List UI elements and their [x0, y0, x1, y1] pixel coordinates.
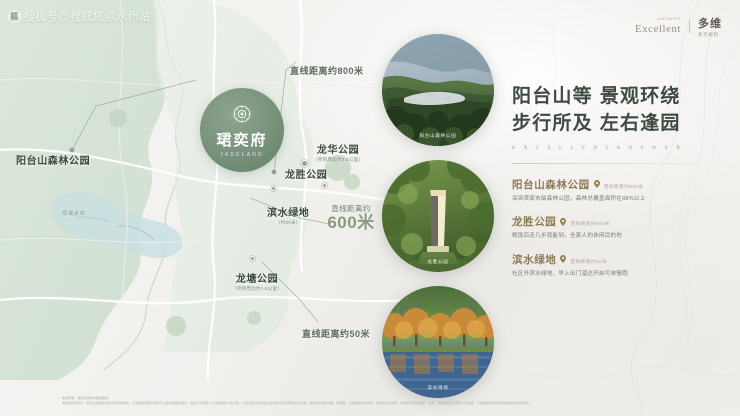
headline-line1-a: 阳台山等 [512, 86, 593, 107]
headline-subline: E X C E L L E N T A N S W E R [512, 145, 730, 151]
poi-description: 晚饭后走几步就能到，全家人的休闲目的地 [512, 232, 730, 240]
map-dot-longtang [250, 256, 255, 261]
content-panel: 阳台山等景观环绕 步行所及左右逢园 E X C E L L E N T A N … [512, 84, 730, 289]
divider-rule [512, 163, 730, 164]
poi-distance: 直线距离约50米 [570, 258, 607, 265]
headline-line1-b: 景观环绕 [600, 86, 681, 107]
map-label-longsheng[interactable]: 龙胜公园 [285, 166, 327, 181]
poi-distance: 直线距离约800米 [604, 183, 644, 190]
page-title: 阳台山等景观环绕 步行所及左右逢园 [512, 84, 730, 138]
brand-cn-sub: 多元规划 [698, 32, 722, 38]
poster-page: 珺奕府 JADELAND 阳台山森林公园 龙华公园 （项目周边约3.2公里） 龙… [0, 0, 740, 416]
poi-description: 社区外滨水绿地，早上出门溜达开启可单慢跑 [512, 270, 730, 278]
photo-yangtaishan-forest-park[interactable]: 阳台山森林公园 [382, 34, 494, 146]
callout-distance-50: 直线距离约50米 [302, 324, 370, 342]
map-dot-waterfront [271, 186, 276, 191]
map-pin-icon [594, 180, 600, 188]
estate-badge[interactable]: 珺奕府 JADELAND [200, 88, 284, 172]
map-dot-longsheng [322, 183, 327, 188]
photo-caption-forest: 阳台山森林公园 [382, 133, 494, 139]
disclaimer-line-2: 本资料所有文字、图片及其他形式的资料仅供参考，不构成任何明示或暗示之要约或要约邀… [62, 401, 720, 406]
brand-logo[interactable]: ANSWER Excellent 多维 多元规划 [635, 14, 722, 38]
poi-name: 滨水绿地 [512, 252, 556, 267]
forest-park-area [0, 0, 165, 380]
footer-disclaimer: 免责声明：本宣传资料为要约邀请 本资料所有文字、图片及其他形式的资料仅供参考，不… [62, 396, 720, 406]
brand-cn: 多维 [698, 18, 722, 30]
map-pin-icon [560, 255, 566, 263]
watermark-text: 搜狐号@搜狐焦点永州站 [24, 8, 151, 24]
brand-en-sup: ANSWER [635, 17, 681, 21]
map-label-waterfront[interactable]: 滨水绿地 （约50米） [267, 204, 309, 226]
estate-name-en: JADELAND [220, 152, 264, 158]
photo-caption-waterfront: 滨水绿地 [382, 385, 494, 391]
poi-item-longsheng[interactable]: 龙胜公园 直线距离约600米 晚饭后走几步就能到，全家人的休闲目的地 [512, 214, 730, 240]
poi-description: 深圳首家市级森林公园，森林总覆盖面积在98%以上 [512, 195, 730, 203]
brand-divider [689, 20, 690, 33]
photo-waterfront-green[interactable]: 滨水绿地 [382, 286, 494, 398]
estate-seal-icon [231, 103, 253, 125]
poi-name: 龙胜公园 [512, 214, 556, 229]
callout-distance-600: 直线距离约 600米 [322, 203, 380, 233]
map-pin-icon [560, 218, 566, 226]
photo-image-park [382, 160, 494, 272]
location-map[interactable]: 珺奕府 JADELAND 阳台山森林公园 龙华公园 （项目周边约3.2公里） 龙… [0, 0, 430, 380]
estate-name-cn: 珺奕府 [216, 129, 267, 150]
headline-line2-a: 步行所及 [512, 113, 593, 134]
callout-distance-800: 直线距离约800米 [290, 61, 364, 79]
poi-item-yangtaishan[interactable]: 阳台山森林公园 直线距离约800米 深圳首家市级森林公园，森林总覆盖面积在98%… [512, 177, 730, 203]
photo-caption-park: 龙胜公园 [382, 259, 494, 265]
photo-image-waterfront [382, 286, 494, 398]
headline-line2-b: 左右逢园 [600, 113, 681, 134]
map-label-yangtaishan[interactable]: 阳台山森林公园 [16, 152, 90, 167]
poi-name: 阳台山森林公园 [512, 177, 590, 192]
watermark: 狐 搜狐号@搜狐焦点永州站 [8, 8, 151, 24]
poi-distance: 直线距离约600米 [570, 220, 610, 227]
map-label-longhua[interactable]: 龙华公园 （项目周边约3.2公里） [313, 141, 363, 163]
map-label-longtang[interactable]: 龙塘公园 （项目周边约1.6公里） [232, 270, 282, 292]
photo-image-forest [382, 34, 494, 146]
map-graphic [0, 0, 430, 380]
map-label-reservoir: 观澜水库 [62, 210, 86, 217]
brand-en: Excellent [635, 23, 681, 35]
poi-item-waterfront[interactable]: 滨水绿地 直线距离约50米 社区外滨水绿地，早上出门溜达开启可单慢跑 [512, 252, 730, 278]
poi-list: 阳台山森林公园 直线距离约800米 深圳首家市级森林公园，森林总覆盖面积在98%… [512, 177, 730, 278]
photo-longsheng-park[interactable]: 龙胜公园 [382, 160, 494, 272]
sohu-logo-icon: 狐 [8, 10, 21, 23]
